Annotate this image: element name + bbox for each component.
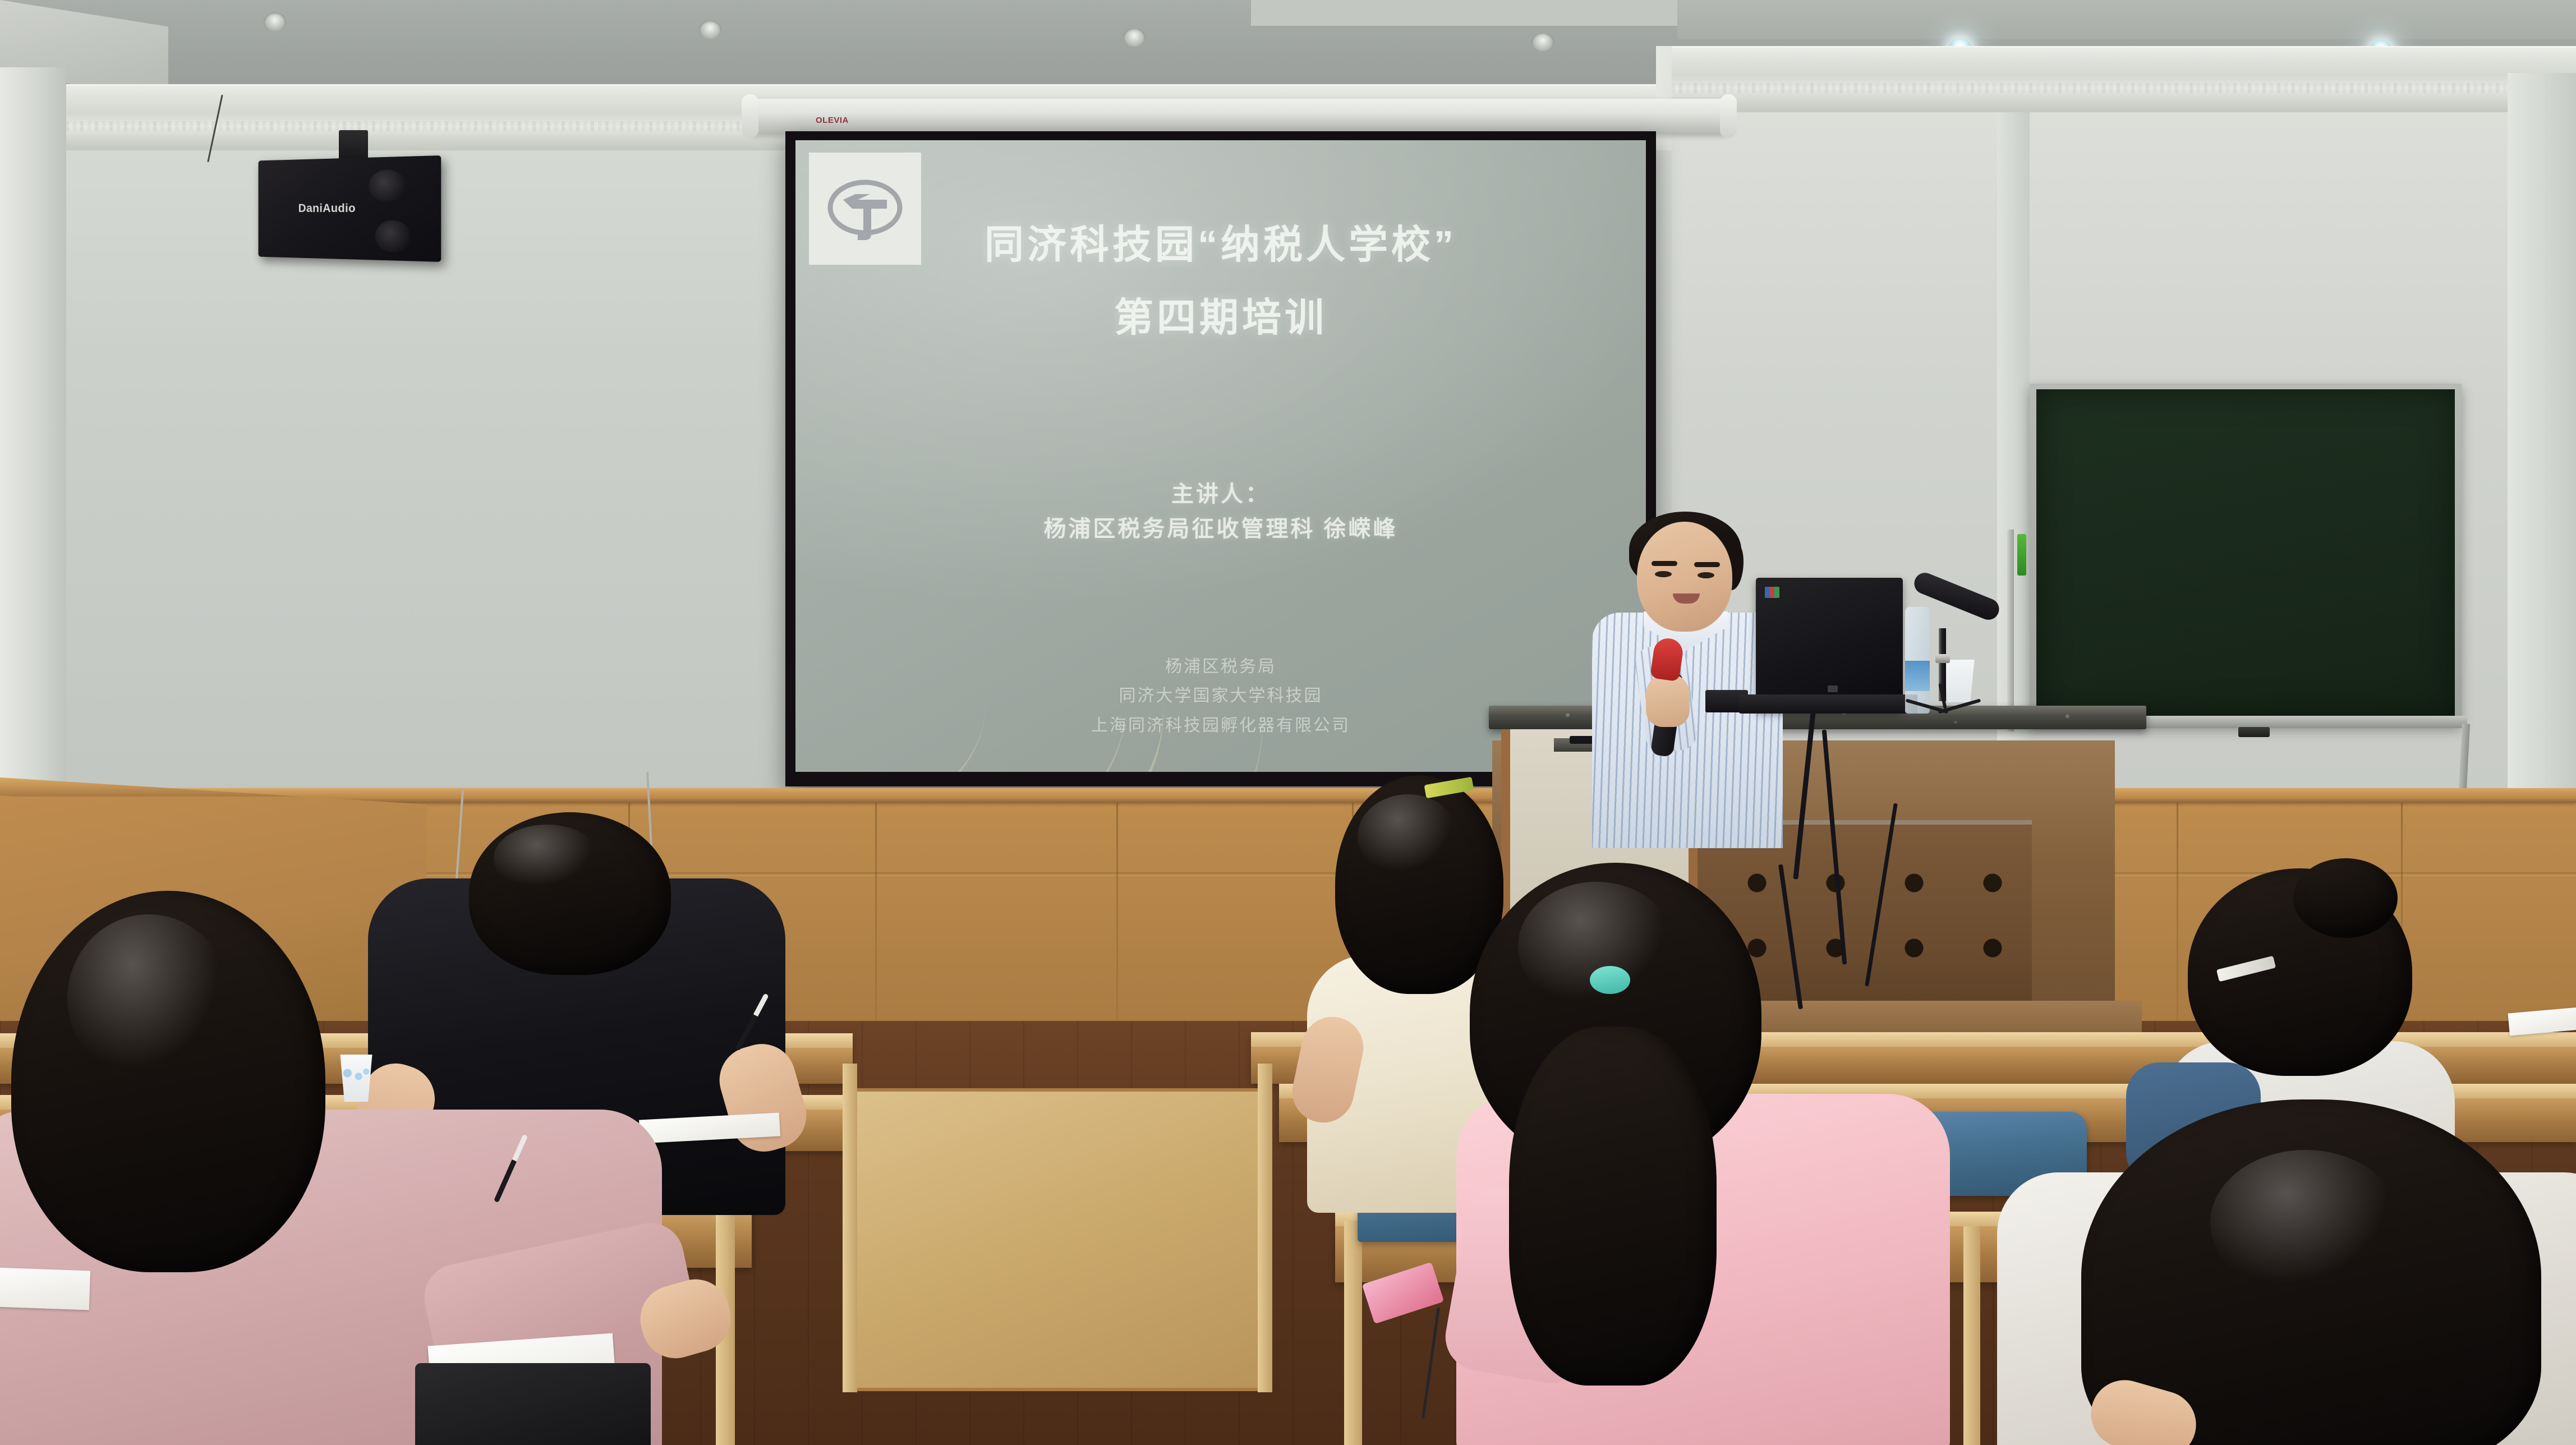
crown-molding-right — [1672, 46, 2576, 113]
attendee-hair-highlight — [1358, 794, 1459, 878]
aisle-partition-panel — [853, 1088, 1271, 1391]
chalkboard-post — [2007, 530, 2014, 731]
presenter-hand — [1646, 673, 1690, 727]
notepaper — [0, 1267, 90, 1310]
attendee-ponytail — [1509, 1027, 1717, 1386]
attendee-hair-highlight — [67, 914, 230, 1083]
housing-end-cap-right — [1720, 94, 1737, 138]
presenter-head — [1637, 522, 1732, 632]
slide-title-line-1: 同济科技园“纳税人学校” — [985, 223, 1457, 266]
desk-leg — [1963, 1226, 1980, 1445]
ceiling-downlight — [1531, 33, 1554, 52]
chalkboard — [2030, 384, 2462, 726]
wall-speaker: DaniAudio — [259, 155, 441, 262]
partition-leg — [1258, 1064, 1272, 1392]
housing-brand-label: OLEVIA — [816, 116, 849, 125]
speaker-brand-label: DaniAudio — [298, 202, 356, 215]
attendee-hair-highlight — [2210, 1150, 2401, 1296]
wall-pilaster-right — [2508, 73, 2576, 858]
slide-presenter-label: 主讲人： — [795, 477, 1646, 512]
green-chalk-marker — [2017, 534, 2026, 576]
paper-cup[interactable] — [339, 1055, 374, 1102]
laptop-latch — [1828, 685, 1838, 692]
chalkboard-surface — [2036, 389, 2455, 716]
speaker-woofer-icon — [375, 220, 411, 252]
handbag[interactable] — [415, 1363, 651, 1445]
desk-microphone-tripod — [1905, 694, 1982, 710]
chalkboard-eraser — [2238, 727, 2270, 737]
ceiling-step-right — [1677, 0, 2576, 39]
slide-title-line-2: 第四期培训 — [795, 297, 1646, 339]
slide-title: 同济科技园“纳税人学校” 第四期培训 — [795, 224, 1646, 338]
presenter-eyebrow — [1694, 562, 1720, 567]
wainscot-cap-rail — [0, 788, 2576, 803]
attendee-hair-bun — [2293, 858, 2398, 938]
ceiling-downlight — [699, 20, 721, 39]
slide-canvas: 同济科技园“纳税人学校” 第四期培训 主讲人： 杨浦区税务局征收管理科 徐嵘峰 … — [795, 140, 1646, 772]
classroom-scene: OLEVIA 同济科技园“纳税人学校” 第四期培训 主讲人： 杨浦区税 — [0, 0, 2576, 1445]
slide-presenter-block: 主讲人： 杨浦区税务局征收管理科 徐嵘峰 — [795, 477, 1646, 546]
wainscot-seam — [875, 803, 877, 1041]
presenter-eyebrow — [1652, 561, 1677, 566]
hair-tie — [1590, 966, 1630, 994]
laptop-keyboard-base[interactable] — [1739, 694, 1917, 714]
ceiling-downlight — [1123, 28, 1146, 47]
presenter-eye — [1698, 572, 1714, 578]
projection-screen-housing[interactable]: OLEVIA — [751, 99, 1728, 134]
ceiling-step-left — [1251, 0, 1677, 26]
presenter-eye — [1655, 571, 1672, 577]
wainscot-seam — [1116, 803, 1118, 1041]
housing-end-cap-left — [742, 94, 758, 138]
attendee-hair-highlight — [494, 825, 600, 892]
desk-microphone-collar — [1935, 654, 1950, 663]
wainscot-seam — [2177, 803, 2178, 1041]
wall-pilaster-left — [0, 67, 66, 864]
slide-footer-line-1: 杨浦区税务局 — [795, 652, 1646, 682]
speaker-tweeter-icon — [369, 169, 406, 202]
laptop-logo-icon — [1765, 587, 1779, 598]
desk-leg — [1344, 1221, 1362, 1445]
water-bottle-label — [1905, 661, 1930, 691]
slide-presenter-name: 杨浦区税务局征收管理科 徐嵘峰 — [795, 512, 1646, 546]
partition-leg — [843, 1064, 857, 1392]
attendee-hair-highlight — [1518, 882, 1675, 1011]
ceiling-downlight — [264, 12, 286, 31]
projection-screen: 同济科技园“纳税人学校” 第四期培训 主讲人： 杨浦区税务局征收管理科 徐嵘峰 … — [785, 131, 1656, 786]
